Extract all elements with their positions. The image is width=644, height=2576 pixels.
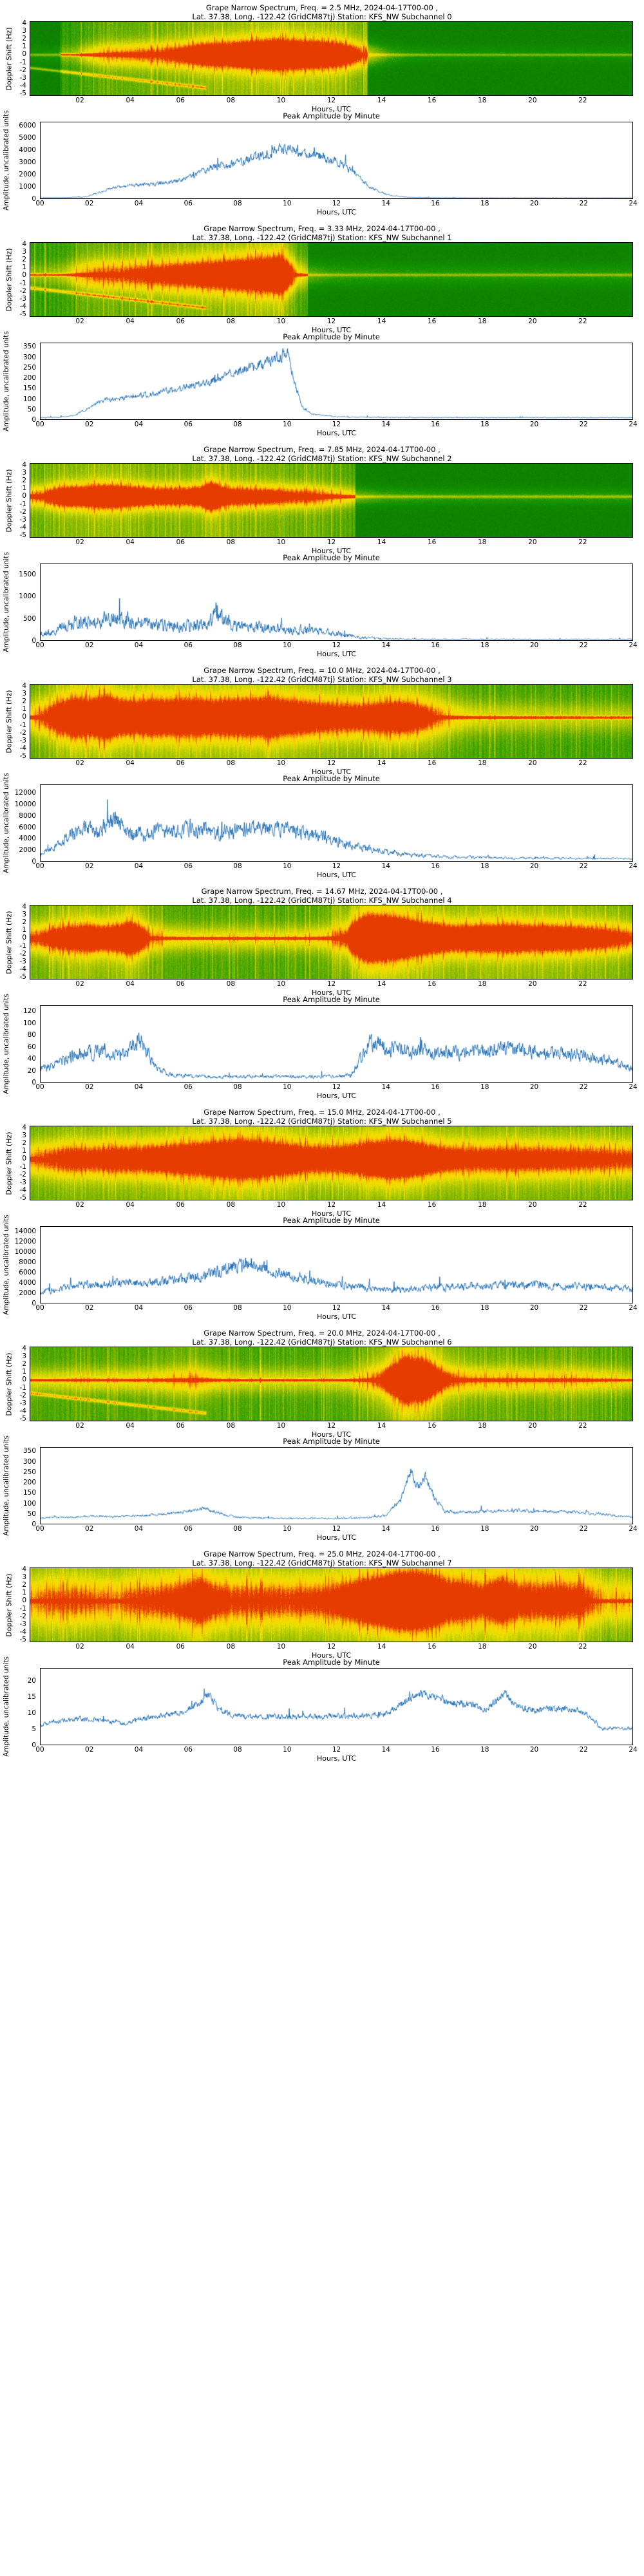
amplitude-x-tick: 20 <box>530 421 538 428</box>
amplitude-y-tick: 10000 <box>15 800 36 808</box>
amplitude-x-tick: 08 <box>233 1525 241 1533</box>
spectrogram-y-tick: -1 <box>20 281 26 286</box>
spectrogram-y-tick: -5 <box>20 312 26 317</box>
amplitude-y-axis-label-text: Amplitude, uncalibrated units <box>3 110 10 211</box>
spectrogram-x-tick: 22 <box>578 1201 587 1209</box>
spectrogram-y-tick: -2 <box>20 1394 26 1398</box>
spectrogram-y-ticks: 43210-1-2-3-4-5 <box>13 1347 28 1421</box>
amplitude-x-tick: 22 <box>580 1525 588 1533</box>
spectrogram-x-tick: 22 <box>578 538 587 546</box>
amplitude-x-tick: 12 <box>332 641 341 649</box>
amplitude-y-tick: 5000 <box>19 134 36 142</box>
amplitude-x-tick: 06 <box>184 862 193 870</box>
amplitude-x-tick: 04 <box>135 200 143 207</box>
spectrogram-y-tick: 3 <box>22 1575 26 1580</box>
amplitude-y-tick: 6000 <box>19 824 36 831</box>
spectrogram-x-tick: 08 <box>227 1422 235 1430</box>
spectrogram-y-tick: 4 <box>22 1126 26 1130</box>
spectrogram-y-axis-label-text: Doppler Shift (Hz) <box>5 27 14 90</box>
amplitude-x-tick: 16 <box>431 641 439 649</box>
spectrogram-x-tick: 20 <box>528 317 536 325</box>
spectrogram-x-tick: 16 <box>428 1422 436 1430</box>
amplitude-x-tick: 22 <box>580 641 588 649</box>
amplitude-y-ticks: 020406080100120 <box>10 1005 39 1083</box>
amplitude-x-tick: 08 <box>233 641 241 649</box>
spectrogram-x-tick: 14 <box>377 1201 386 1209</box>
amplitude-x-tick: 24 <box>629 200 637 207</box>
amplitude-y-tick: 200 <box>23 1479 36 1486</box>
amplitude-canvas <box>41 1669 632 1745</box>
spectrogram-x-tick: 14 <box>377 1643 386 1651</box>
spectrogram-y-tick: -3 <box>20 1622 26 1627</box>
amplitude-x-tick: 22 <box>580 421 588 428</box>
spectrogram-y-axis-label-text: Doppler Shift (Hz) <box>5 248 14 311</box>
amplitude-x-tick: 14 <box>382 862 390 870</box>
spectrogram-x-tick: 10 <box>277 759 285 767</box>
amplitude-x-tick: 04 <box>135 1525 143 1533</box>
spectrogram-x-tick: 08 <box>227 1643 235 1651</box>
amplitude-y-tick: 50 <box>28 1510 36 1518</box>
spectrogram-wrapper: Doppler Shift (Hz) 43210-1-2-3-4-5 02040… <box>0 905 644 994</box>
amplitude-chart-title: Peak Amplitude by Minute <box>30 111 633 120</box>
amplitude-canvas <box>41 1227 632 1303</box>
spectrogram-y-tick: 2 <box>22 699 26 704</box>
amplitude-x-tick: 10 <box>283 641 291 649</box>
spectrogram-y-tick: 4 <box>22 463 26 468</box>
spectrogram-title: Grape Narrow Spectrum, Freq. = 15.0 MHz,… <box>0 1104 644 1126</box>
spectrogram-title-line1: Grape Narrow Spectrum, Freq. = 14.67 MHz… <box>0 887 644 896</box>
spectrogram-wrapper: Doppler Shift (Hz) 43210-1-2-3-4-5 02040… <box>0 684 644 773</box>
amplitude-x-ticks: 00020406081012141618202224 <box>40 200 633 209</box>
spectrogram-x-tick: 10 <box>277 1643 285 1651</box>
spectrogram-y-tick: -3 <box>20 518 26 522</box>
spectrogram-x-tick: 02 <box>75 1201 84 1209</box>
spectrogram-x-tick: 06 <box>176 759 185 767</box>
amplitude-y-ticks: 0100020003000400050006000 <box>10 122 39 199</box>
amplitude-x-tick: 04 <box>135 421 143 428</box>
spectrogram-title-line2: Lat. 37.38, Long. -122.42 (GridCM87tj) S… <box>0 13 644 22</box>
spectrogram-x-tick: 18 <box>478 538 486 546</box>
amplitude-x-tick: 04 <box>135 1304 143 1312</box>
amplitude-x-axis-label: Hours, UTC <box>40 429 633 437</box>
amplitude-y-tick: 2000 <box>19 1289 36 1297</box>
amplitude-x-tick: 02 <box>85 641 93 649</box>
spectrogram-y-tick: 1 <box>22 44 26 49</box>
amplitude-x-axis-label: Hours, UTC <box>40 1533 633 1542</box>
spectrogram-x-tick: 20 <box>528 980 536 988</box>
spectrogram-y-tick: -1 <box>20 723 26 728</box>
panel-block: Grape Narrow Spectrum, Freq. = 25.0 MHz,… <box>0 1546 644 1767</box>
spectrogram-y-ticks: 43210-1-2-3-4-5 <box>13 21 28 96</box>
amplitude-y-tick: 1500 <box>19 571 36 578</box>
amplitude-x-tick: 16 <box>431 862 439 870</box>
spectrogram-x-tick: 20 <box>528 1201 536 1209</box>
spectrogram-x-tick: 06 <box>176 1201 185 1209</box>
amplitude-plot <box>40 122 633 199</box>
spectrogram-title-line2: Lat. 37.38, Long. -122.42 (GridCM87tj) S… <box>0 1338 644 1347</box>
spectrogram-y-axis-label-text: Doppler Shift (Hz) <box>5 1352 14 1416</box>
amplitude-x-tick: 12 <box>332 421 341 428</box>
spectrogram-x-tick: 04 <box>126 1643 134 1651</box>
spectrogram-x-tick: 08 <box>227 759 235 767</box>
spectrogram-y-tick: 1 <box>22 265 26 270</box>
amplitude-x-tick: 12 <box>332 200 341 207</box>
spectrogram-x-ticks: 0204060810121416182022 <box>30 759 633 768</box>
spectrogram-x-tick: 04 <box>126 317 134 325</box>
spectrogram-x-tick: 14 <box>377 759 386 767</box>
spectrogram-y-axis-label-text: Doppler Shift (Hz) <box>5 469 14 532</box>
amplitude-x-tick: 10 <box>283 1304 291 1312</box>
amplitude-x-tick: 24 <box>629 641 637 649</box>
spectrogram-title-line1: Grape Narrow Spectrum, Freq. = 25.0 MHz,… <box>0 1550 644 1559</box>
spectrogram-title-line2: Lat. 37.38, Long. -122.42 (GridCM87tj) S… <box>0 455 644 464</box>
spectrogram-x-tick: 20 <box>528 1422 536 1430</box>
spectrogram-x-tick: 14 <box>377 538 386 546</box>
spectrogram-x-tick: 22 <box>578 1422 587 1430</box>
amplitude-y-tick: 12000 <box>15 1238 36 1245</box>
spectrogram-x-tick: 12 <box>327 1201 336 1209</box>
amplitude-y-tick: 150 <box>23 1489 36 1497</box>
spectrogram-y-tick: -1 <box>20 502 26 507</box>
amplitude-y-tick: 1000 <box>19 592 36 600</box>
amplitude-x-tick: 08 <box>233 1746 241 1754</box>
amplitude-y-tick: 100 <box>23 1019 36 1027</box>
spectrogram-y-tick: -4 <box>20 1409 26 1414</box>
figure-root: Grape Narrow Spectrum, Freq. = 2.5 MHz, … <box>0 0 644 1767</box>
amplitude-x-tick: 00 <box>35 862 44 870</box>
amplitude-x-tick: 20 <box>530 200 538 207</box>
amplitude-wrapper: Peak Amplitude by Minute Amplitude, unca… <box>0 994 644 1104</box>
spectrogram-y-tick: 2 <box>22 1141 26 1146</box>
spectrogram-plot <box>30 684 633 759</box>
amplitude-y-tick: 200 <box>23 374 36 382</box>
spectrogram-x-tick: 06 <box>176 1422 185 1430</box>
amplitude-x-tick: 06 <box>184 1746 193 1754</box>
spectrogram-y-tick: 4 <box>22 1567 26 1572</box>
amplitude-x-tick: 10 <box>283 421 291 428</box>
amplitude-x-axis-label: Hours, UTC <box>40 1754 633 1763</box>
amplitude-canvas <box>41 564 632 640</box>
amplitude-x-tick: 12 <box>332 1746 341 1754</box>
amplitude-x-tick: 18 <box>480 200 489 207</box>
spectrogram-canvas <box>30 1126 632 1200</box>
spectrogram-y-tick: -3 <box>20 297 26 301</box>
amplitude-y-tick: 4000 <box>19 1279 36 1287</box>
amplitude-x-tick: 04 <box>135 1746 143 1754</box>
spectrogram-y-tick: 3 <box>22 913 26 917</box>
spectrogram-x-tick: 22 <box>578 1643 587 1651</box>
spectrogram-x-tick: 20 <box>528 97 536 104</box>
amplitude-x-tick: 04 <box>135 1083 143 1091</box>
spectrogram-canvas <box>30 464 632 537</box>
amplitude-x-tick: 10 <box>283 200 291 207</box>
spectrogram-x-tick: 18 <box>478 759 486 767</box>
amplitude-y-tick: 2000 <box>19 171 36 178</box>
amplitude-x-tick: 24 <box>629 1304 637 1312</box>
spectrogram-y-tick: 1 <box>22 1149 26 1153</box>
amplitude-canvas <box>41 122 632 198</box>
amplitude-x-tick: 14 <box>382 200 390 207</box>
amplitude-wrapper: Peak Amplitude by Minute Amplitude, unca… <box>0 331 644 442</box>
spectrogram-x-tick: 08 <box>227 538 235 546</box>
amplitude-x-tick: 22 <box>580 200 588 207</box>
amplitude-wrapper: Peak Amplitude by Minute Amplitude, unca… <box>0 110 644 221</box>
spectrogram-y-tick: 4 <box>22 242 26 247</box>
spectrogram-y-tick: -4 <box>20 84 26 88</box>
amplitude-x-tick: 24 <box>629 1746 637 1754</box>
amplitude-wrapper: Peak Amplitude by Minute Amplitude, unca… <box>0 1435 644 1546</box>
spectrogram-plot <box>30 1347 633 1421</box>
spectrogram-y-tick: 3 <box>22 692 26 696</box>
spectrogram-canvas <box>30 22 632 95</box>
spectrogram-wrapper: Doppler Shift (Hz) 43210-1-2-3-4-5 02040… <box>0 1347 644 1435</box>
spectrogram-x-tick: 20 <box>528 759 536 767</box>
spectrogram-y-tick: -5 <box>20 754 26 759</box>
amplitude-x-tick: 10 <box>283 1746 291 1754</box>
spectrogram-y-ticks: 43210-1-2-3-4-5 <box>13 1126 28 1200</box>
spectrogram-x-tick: 12 <box>327 538 336 546</box>
amplitude-chart-title: Peak Amplitude by Minute <box>30 1658 633 1667</box>
spectrogram-x-tick: 16 <box>428 980 436 988</box>
spectrogram-y-tick: -1 <box>20 1386 26 1390</box>
amplitude-chart-title: Peak Amplitude by Minute <box>30 774 633 783</box>
amplitude-x-tick: 04 <box>135 641 143 649</box>
spectrogram-y-ticks: 43210-1-2-3-4-5 <box>13 463 28 538</box>
amplitude-plot <box>40 1668 633 1745</box>
spectrogram-y-axis-label-text: Doppler Shift (Hz) <box>5 690 14 753</box>
spectrogram-y-tick: -3 <box>20 960 26 964</box>
spectrogram-title-line1: Grape Narrow Spectrum, Freq. = 3.33 MHz,… <box>0 225 644 234</box>
spectrogram-y-tick: 3 <box>22 471 26 475</box>
spectrogram-x-tick: 22 <box>578 317 587 325</box>
amplitude-x-tick: 06 <box>184 1304 193 1312</box>
amplitude-x-tick: 24 <box>629 862 637 870</box>
amplitude-x-tick: 14 <box>382 1083 390 1091</box>
spectrogram-x-tick: 12 <box>327 1643 336 1651</box>
spectrogram-canvas <box>30 1568 632 1642</box>
amplitude-y-tick: 6000 <box>19 122 36 129</box>
amplitude-canvas <box>41 1006 632 1082</box>
amplitude-y-tick: 4000 <box>19 835 36 842</box>
amplitude-x-tick: 16 <box>431 1304 439 1312</box>
amplitude-y-tick: 10000 <box>15 1248 36 1256</box>
spectrogram-y-tick: -1 <box>20 1607 26 1611</box>
amplitude-y-axis-label-text: Amplitude, uncalibrated units <box>3 994 10 1094</box>
amplitude-x-tick: 24 <box>629 1525 637 1533</box>
spectrogram-x-tick: 04 <box>126 1201 134 1209</box>
spectrogram-y-tick: 4 <box>22 21 26 26</box>
amplitude-y-tick: 2000 <box>19 846 36 854</box>
amplitude-y-tick: 12000 <box>15 789 36 797</box>
amplitude-chart-title: Peak Amplitude by Minute <box>30 995 633 1004</box>
amplitude-x-axis-label: Hours, UTC <box>40 1092 633 1100</box>
amplitude-x-tick: 04 <box>135 862 143 870</box>
panel-block: Grape Narrow Spectrum, Freq. = 2.5 MHz, … <box>0 0 644 221</box>
spectrogram-x-tick: 08 <box>227 317 235 325</box>
spectrogram-plot <box>30 905 633 980</box>
amplitude-x-tick: 12 <box>332 1525 341 1533</box>
spectrogram-x-tick: 14 <box>377 1422 386 1430</box>
amplitude-y-tick: 8000 <box>19 1258 36 1266</box>
amplitude-plot <box>40 563 633 641</box>
amplitude-x-tick: 08 <box>233 1083 241 1091</box>
amplitude-x-tick: 00 <box>35 641 44 649</box>
amplitude-y-tick: 14000 <box>15 1227 36 1235</box>
amplitude-plot <box>40 1226 633 1303</box>
amplitude-y-tick: 300 <box>23 1458 36 1466</box>
spectrogram-y-ticks: 43210-1-2-3-4-5 <box>13 242 28 317</box>
spectrogram-x-tick: 06 <box>176 538 185 546</box>
spectrogram-x-tick: 14 <box>377 97 386 104</box>
spectrogram-y-tick: -2 <box>20 289 26 294</box>
spectrogram-title-line1: Grape Narrow Spectrum, Freq. = 20.0 MHz,… <box>0 1329 644 1338</box>
spectrogram-y-tick: 2 <box>22 1362 26 1367</box>
amplitude-x-axis-label: Hours, UTC <box>40 1312 633 1321</box>
spectrogram-x-tick: 12 <box>327 317 336 325</box>
spectrogram-y-tick: -5 <box>20 975 26 980</box>
spectrogram-x-tick: 10 <box>277 97 285 104</box>
spectrogram-y-axis-label-text: Doppler Shift (Hz) <box>5 911 14 974</box>
amplitude-y-ticks: 020004000600080001000012000 <box>10 784 39 862</box>
spectrogram-x-tick: 10 <box>277 980 285 988</box>
amplitude-plot <box>40 343 633 420</box>
spectrogram-title-line1: Grape Narrow Spectrum, Freq. = 2.5 MHz, … <box>0 4 644 13</box>
amplitude-x-tick: 18 <box>480 862 489 870</box>
amplitude-wrapper: Peak Amplitude by Minute Amplitude, unca… <box>0 552 644 663</box>
spectrogram-wrapper: Doppler Shift (Hz) 43210-1-2-3-4-5 02040… <box>0 242 644 331</box>
amplitude-x-tick: 08 <box>233 1304 241 1312</box>
amplitude-x-tick: 08 <box>233 421 241 428</box>
spectrogram-x-tick: 02 <box>75 317 84 325</box>
amplitude-x-tick: 00 <box>35 200 44 207</box>
amplitude-y-tick: 100 <box>23 1500 36 1508</box>
spectrogram-plot <box>30 463 633 538</box>
amplitude-x-tick: 06 <box>184 200 193 207</box>
amplitude-wrapper: Peak Amplitude by Minute Amplitude, unca… <box>0 773 644 884</box>
spectrogram-y-ticks: 43210-1-2-3-4-5 <box>13 1567 28 1642</box>
spectrogram-y-tick: 4 <box>22 1347 26 1351</box>
amplitude-x-tick: 18 <box>480 1525 489 1533</box>
spectrogram-x-tick: 08 <box>227 97 235 104</box>
amplitude-x-tick: 12 <box>332 1083 341 1091</box>
amplitude-y-axis-label-text: Amplitude, uncalibrated units <box>3 552 10 652</box>
amplitude-x-tick: 18 <box>480 1304 489 1312</box>
amplitude-x-tick: 12 <box>332 862 341 870</box>
panel-block: Grape Narrow Spectrum, Freq. = 3.33 MHz,… <box>0 221 644 442</box>
amplitude-y-tick: 50 <box>28 406 36 413</box>
spectrogram-y-tick: 3 <box>22 1354 26 1359</box>
amplitude-x-tick: 22 <box>580 1746 588 1754</box>
amplitude-x-tick: 16 <box>431 421 439 428</box>
spectrogram-plot <box>30 1567 633 1642</box>
spectrogram-title-line2: Lat. 37.38, Long. -122.42 (GridCM87tj) S… <box>0 234 644 243</box>
spectrogram-canvas <box>30 1347 632 1421</box>
spectrogram-y-ticks: 43210-1-2-3-4-5 <box>13 684 28 759</box>
amplitude-x-tick: 20 <box>530 1525 538 1533</box>
spectrogram-title: Grape Narrow Spectrum, Freq. = 10.0 MHz,… <box>0 663 644 684</box>
spectrogram-y-tick: -1 <box>20 1165 26 1170</box>
spectrogram-y-tick: -4 <box>20 1188 26 1193</box>
spectrogram-y-tick: 0 <box>22 715 26 719</box>
spectrogram-y-tick: -1 <box>20 944 26 949</box>
amplitude-plot <box>40 1005 633 1083</box>
amplitude-y-tick: 500 <box>23 615 36 623</box>
spectrogram-y-tick: -1 <box>20 61 26 65</box>
panel-block: Grape Narrow Spectrum, Freq. = 15.0 MHz,… <box>0 1104 644 1325</box>
spectrogram-y-tick: 2 <box>22 478 26 483</box>
amplitude-x-tick: 18 <box>480 641 489 649</box>
spectrogram-x-tick: 18 <box>478 317 486 325</box>
amplitude-x-tick: 18 <box>480 421 489 428</box>
amplitude-x-tick: 08 <box>233 200 241 207</box>
amplitude-x-tick: 14 <box>382 1525 390 1533</box>
spectrogram-wrapper: Doppler Shift (Hz) 43210-1-2-3-4-5 02040… <box>0 21 644 110</box>
spectrogram-x-tick: 10 <box>277 1201 285 1209</box>
spectrogram-y-tick: -5 <box>20 1417 26 1421</box>
spectrogram-y-tick: 2 <box>22 37 26 41</box>
spectrogram-y-tick: -4 <box>20 746 26 751</box>
spectrogram-x-ticks: 0204060810121416182022 <box>30 1422 633 1431</box>
spectrogram-x-tick: 08 <box>227 980 235 988</box>
amplitude-chart-title: Peak Amplitude by Minute <box>30 553 633 562</box>
spectrogram-x-tick: 16 <box>428 759 436 767</box>
spectrogram-x-tick: 08 <box>227 1201 235 1209</box>
spectrogram-x-tick: 12 <box>327 1422 336 1430</box>
amplitude-x-tick: 22 <box>580 862 588 870</box>
spectrogram-x-tick: 12 <box>327 759 336 767</box>
spectrogram-x-ticks: 0204060810121416182022 <box>30 1643 633 1652</box>
spectrogram-y-tick: 2 <box>22 258 26 262</box>
spectrogram-x-tick: 04 <box>126 97 134 104</box>
amplitude-y-tick: 350 <box>23 1447 36 1455</box>
spectrogram-y-tick: 0 <box>22 273 26 278</box>
spectrogram-y-tick: 2 <box>22 920 26 925</box>
amplitude-y-axis-label-text: Amplitude, uncalibrated units <box>3 1435 10 1536</box>
spectrogram-y-tick: -3 <box>20 76 26 80</box>
spectrogram-x-tick: 06 <box>176 317 185 325</box>
spectrogram-x-tick: 22 <box>578 97 587 104</box>
spectrogram-y-tick: 0 <box>22 936 26 940</box>
amplitude-x-tick: 24 <box>629 421 637 428</box>
amplitude-y-tick: 250 <box>23 364 36 372</box>
spectrogram-y-tick: 1 <box>22 1370 26 1374</box>
spectrogram-y-tick: 0 <box>22 52 26 57</box>
spectrogram-y-tick: -5 <box>20 533 26 538</box>
spectrogram-x-tick: 06 <box>176 980 185 988</box>
panel-block: Grape Narrow Spectrum, Freq. = 14.67 MHz… <box>0 884 644 1104</box>
amplitude-x-tick: 02 <box>85 1083 93 1091</box>
amplitude-x-tick: 22 <box>580 1304 588 1312</box>
amplitude-canvas <box>41 1448 632 1524</box>
amplitude-wrapper: Peak Amplitude by Minute Amplitude, unca… <box>0 1656 644 1767</box>
spectrogram-y-tick: 1 <box>22 928 26 933</box>
amplitude-x-tick: 10 <box>283 862 291 870</box>
amplitude-y-ticks: 02000400060008000100001200014000 <box>10 1226 39 1303</box>
amplitude-y-tick: 60 <box>28 1043 36 1051</box>
spectrogram-x-tick: 16 <box>428 538 436 546</box>
amplitude-y-ticks: 050100150200250300350 <box>10 343 39 420</box>
amplitude-x-ticks: 00020406081012141618202224 <box>40 421 633 430</box>
spectrogram-x-ticks: 0204060810121416182022 <box>30 1201 633 1210</box>
spectrogram-x-tick: 14 <box>377 317 386 325</box>
spectrogram-y-tick: -4 <box>20 305 26 309</box>
spectrogram-y-tick: -3 <box>20 1180 26 1185</box>
amplitude-y-tick: 8000 <box>19 812 36 820</box>
spectrogram-y-tick: -3 <box>20 1401 26 1406</box>
spectrogram-y-tick: -5 <box>20 1638 26 1642</box>
amplitude-x-tick: 10 <box>283 1083 291 1091</box>
spectrogram-x-tick: 04 <box>126 980 134 988</box>
